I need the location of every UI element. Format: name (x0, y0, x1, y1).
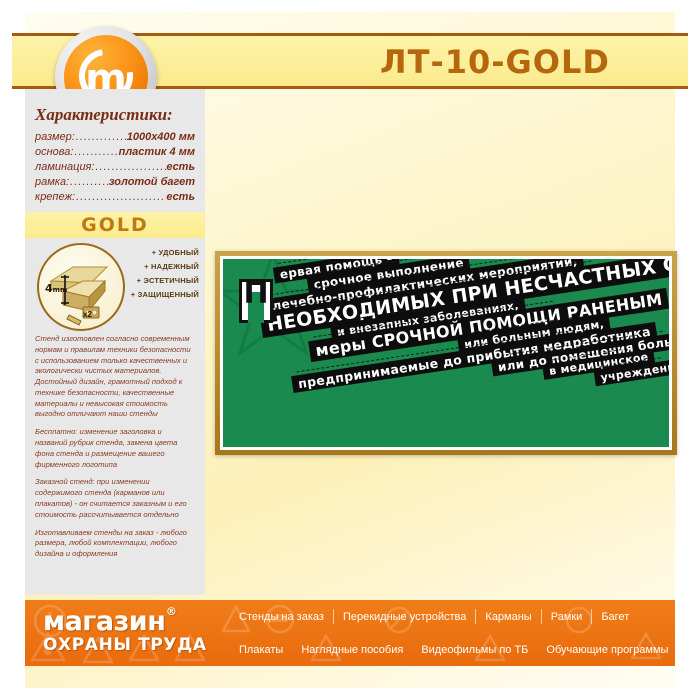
spec-dots: .................................... (95, 161, 167, 173)
footer-nav-link[interactable]: Стенды на заказ (230, 611, 333, 623)
spec-dots: .................................... (75, 191, 166, 203)
gold-band-label: GOLD (25, 212, 205, 238)
spec-row: размер: ................................… (35, 131, 195, 143)
sidebar-paragraph: Заказной стенд: при изменении содержимог… (35, 477, 195, 520)
fastener-count-label: x2 (83, 310, 92, 319)
sidebar-paragraph: Стенд изготовлен согласно современным но… (35, 334, 195, 420)
feature-item: + ЭСТЕТИЧНЫЙ (131, 276, 199, 285)
first-aid-poster: П ервая помощь –срочное выполнениелечебн… (223, 259, 669, 447)
footer-nav-link[interactable]: Плакаты (230, 644, 292, 656)
footer-nav-link[interactable]: Наглядные пособия (292, 644, 412, 656)
spec-value: золотой багет (109, 176, 195, 188)
spec-label: размер: (35, 131, 75, 143)
spec-heading: Характеристики: (35, 105, 205, 125)
spec-value: пластик 4 мм (119, 146, 195, 158)
spec-row: основа: ................................… (35, 146, 195, 158)
feature-list: + УДОБНЫЙ + НАДЕЖНЫЙ + ЭСТЕТИЧНЫЙ + ЗАЩИ… (131, 248, 199, 304)
footer-nav-row-2: ПлакатыНаглядные пособияВидеофильмы по Т… (230, 633, 670, 666)
footer-brand[interactable]: магазин® ОХРАНЫ ТРУДА (43, 608, 218, 655)
registered-trademark-icon: ® (166, 606, 177, 617)
sidebar-paragraph: Изготавливаем стенды на заказ - любого р… (35, 528, 195, 560)
drop-cap-letter: П (239, 279, 273, 323)
footer-nav-link[interactable]: Обучающие программы (537, 644, 675, 656)
spec-dots: .................................... (73, 146, 118, 158)
footer-nav-link[interactable]: Рамки (542, 611, 592, 623)
footer-brand-line2: ОХРАНЫ ТРУДА (43, 636, 218, 655)
spec-label: рамка: (35, 176, 69, 188)
spec-row: крепеж: ................................… (35, 191, 195, 203)
footer-brand-text: магазин (43, 606, 165, 637)
poster-frame: П ервая помощь –срочное выполнениелечебн… (215, 251, 677, 455)
thickness-unit: mm (53, 286, 68, 294)
spec-dots: .................................... (75, 131, 127, 143)
footer-brand-line1: магазин® (43, 608, 165, 635)
spec-row: ламинация: .............................… (35, 161, 195, 173)
thickness-value: 4 (45, 282, 53, 295)
poster-text-lines: ервая помощь –срочное выполнениелечебно-… (223, 259, 669, 445)
spec-dots: .................................... (69, 176, 109, 188)
sidebar-description: Стенд изготовлен согласно современным но… (35, 334, 195, 560)
spec-label: ламинация: (35, 161, 95, 173)
footer-nav-link[interactable]: Перекидные устройства (334, 611, 475, 623)
spec-label: крепеж: (35, 191, 75, 203)
feature-item: + ЗАЩИЩЕННЫЙ (131, 290, 199, 299)
footer: магазин® ОХРАНЫ ТРУДА Стенды на заказПер… (25, 600, 675, 666)
poster-mat: П ервая помощь –срочное выполнениелечебн… (220, 256, 672, 450)
spec-value: есть (166, 161, 195, 173)
spec-label: основа: (35, 146, 73, 158)
spec-value: 1000х400 мм (127, 131, 195, 143)
feature-item: + НАДЕЖНЫЙ (131, 262, 199, 271)
feature-item: + УДОБНЫЙ (131, 248, 199, 257)
thickness-label: 4mm (45, 282, 67, 295)
page-title: ЛТ-10-GOLD (330, 40, 660, 84)
sidebar: Характеристики: размер: ................… (25, 89, 205, 595)
sidebar-paragraph: Бесплатно: изменение заголовка и названи… (35, 427, 195, 470)
footer-nav-row-1: Стенды на заказПерекидные устройстваКарм… (230, 600, 670, 633)
page-root: ЛТ-10-GOLD m Характеристики: размер: ...… (0, 0, 700, 700)
footer-nav-link[interactable]: Багет (592, 611, 638, 623)
spec-value: есть (166, 191, 195, 203)
spec-row: рамка: .................................… (35, 176, 195, 188)
footer-nav-link[interactable]: Карманы (476, 611, 540, 623)
footer-nav: Стенды на заказПерекидные устройстваКарм… (230, 600, 670, 666)
footer-nav-link[interactable]: Видеофильмы по ТБ (412, 644, 537, 656)
frame-profile-figure: 4mm x2 + УДОБНЫЙ + НАДЕЖНЫЙ + ЭСТЕТИЧНЫЙ… (25, 238, 205, 330)
